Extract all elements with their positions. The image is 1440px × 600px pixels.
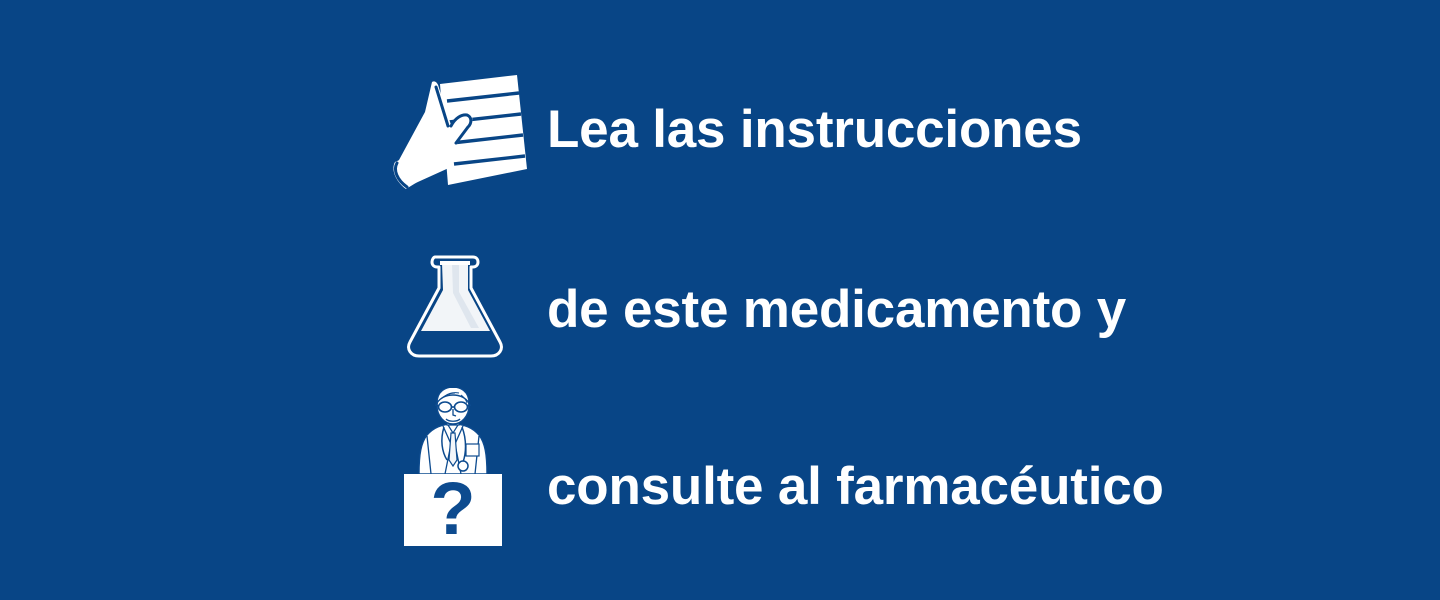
pharmacist-counter-glyph: ?	[398, 388, 508, 550]
caption-read-instructions: Lea las instrucciones	[547, 103, 1082, 156]
erlenmeyer-flask-icon	[400, 248, 510, 363]
caption-of-this-medication: de este medicamento y	[547, 283, 1126, 336]
instruction-slide: Lea las instrucciones de este medicament…	[0, 0, 1440, 600]
erlenmeyer-flask-glyph	[400, 248, 510, 363]
pharmacist-figure	[419, 388, 487, 474]
coat-pocket	[466, 444, 479, 456]
necktie	[449, 433, 457, 466]
caption-consult-pharmacist: consulte al farmacéutico	[547, 460, 1164, 513]
question-mark-symbol: ?	[430, 467, 475, 550]
flask-rim-highlight	[440, 261, 470, 265]
hand-reading-document-icon	[385, 68, 535, 198]
hand-reading-document-glyph	[385, 68, 535, 198]
pharmacist-counter-icon: ?	[398, 388, 508, 550]
